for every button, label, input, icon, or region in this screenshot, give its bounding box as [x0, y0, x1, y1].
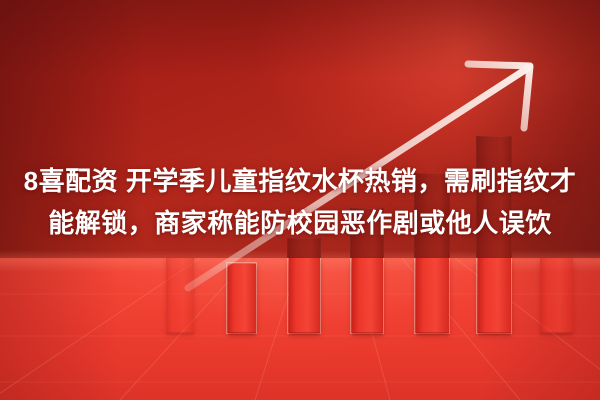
page-title: 8喜配资 开学季儿童指纹水杯热销，需刷指纹才 能解锁，商家称能防校园恶作剧或他人…	[0, 160, 600, 244]
banner-image: 8喜配资 开学季儿童指纹水杯热销，需刷指纹才 能解锁，商家称能防校园恶作剧或他人…	[0, 0, 600, 400]
